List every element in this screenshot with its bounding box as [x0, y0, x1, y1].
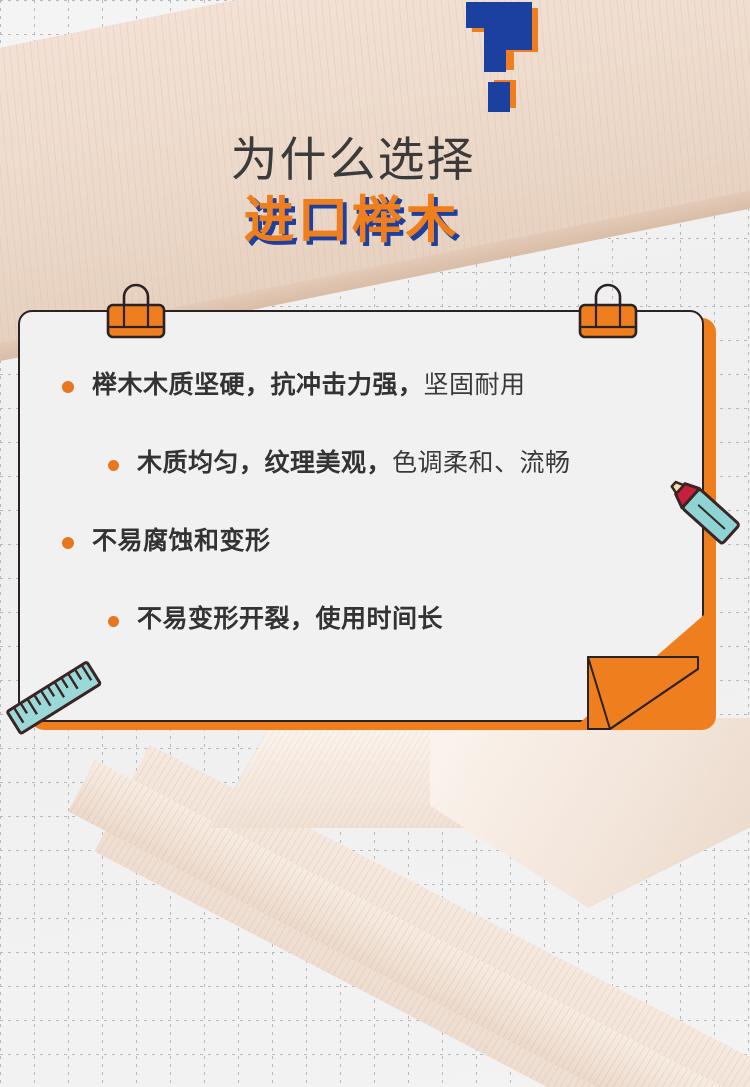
bullet-dot-icon	[62, 381, 74, 393]
bullet-item-4: 不易变形开裂，使用时间长	[50, 602, 674, 636]
bullet-dot-icon	[108, 460, 119, 471]
poster-root: 为什么选择 进口榉木	[0, 0, 750, 1087]
bullet-text-1: 榉木木质坚硬，抗冲击力强，坚固耐用	[92, 368, 526, 402]
bullet-dot-icon	[62, 537, 74, 549]
card-content: 榉木木质坚硬，抗冲击力强，坚固耐用 木质均匀，纹理美观，色调柔和、流畅 不易腐蚀…	[18, 310, 704, 722]
question-mark-icon	[466, 2, 550, 134]
bullet-text-2: 木质均匀，纹理美观，色调柔和、流畅	[137, 446, 571, 480]
bullet-item-1: 榉木木质坚硬，抗冲击力强，坚固耐用	[50, 368, 674, 402]
bullet-text-2-bold: 木质均匀，纹理美观，	[137, 449, 392, 477]
bullet-text-3: 不易腐蚀和变形	[92, 524, 271, 558]
spacer-3	[50, 558, 674, 602]
bullet-text-3-bold: 不易腐蚀和变形	[92, 527, 271, 555]
bullet-text-1-normal: 坚固耐用	[424, 371, 526, 399]
bullet-item-3: 不易腐蚀和变形	[50, 524, 674, 558]
wood-plank-lower-4	[430, 718, 750, 908]
binder-clip-icon-left	[104, 283, 168, 345]
title-block: 为什么选择 进口榉木	[0, 132, 750, 250]
bullet-text-4: 不易变形开裂，使用时间长	[137, 602, 443, 636]
title-line-2: 进口榉木	[244, 190, 460, 250]
ruler-icon	[2, 655, 106, 745]
bullet-item-2: 木质均匀，纹理美观，色调柔和、流畅	[50, 446, 674, 480]
bullet-text-4-bold: 不易变形开裂，使用时间长	[137, 605, 443, 633]
binder-clip-icon-right	[576, 283, 640, 345]
spacer-2	[50, 480, 674, 524]
spacer-1	[50, 402, 674, 446]
bullet-dot-icon	[108, 616, 119, 627]
bullet-text-1-bold: 榉木木质坚硬，抗冲击力强，	[92, 371, 424, 399]
title-line-1: 为什么选择	[231, 132, 476, 188]
bullet-text-2-normal: 色调柔和、流畅	[392, 449, 571, 477]
highlighter-marker-icon	[660, 468, 746, 564]
